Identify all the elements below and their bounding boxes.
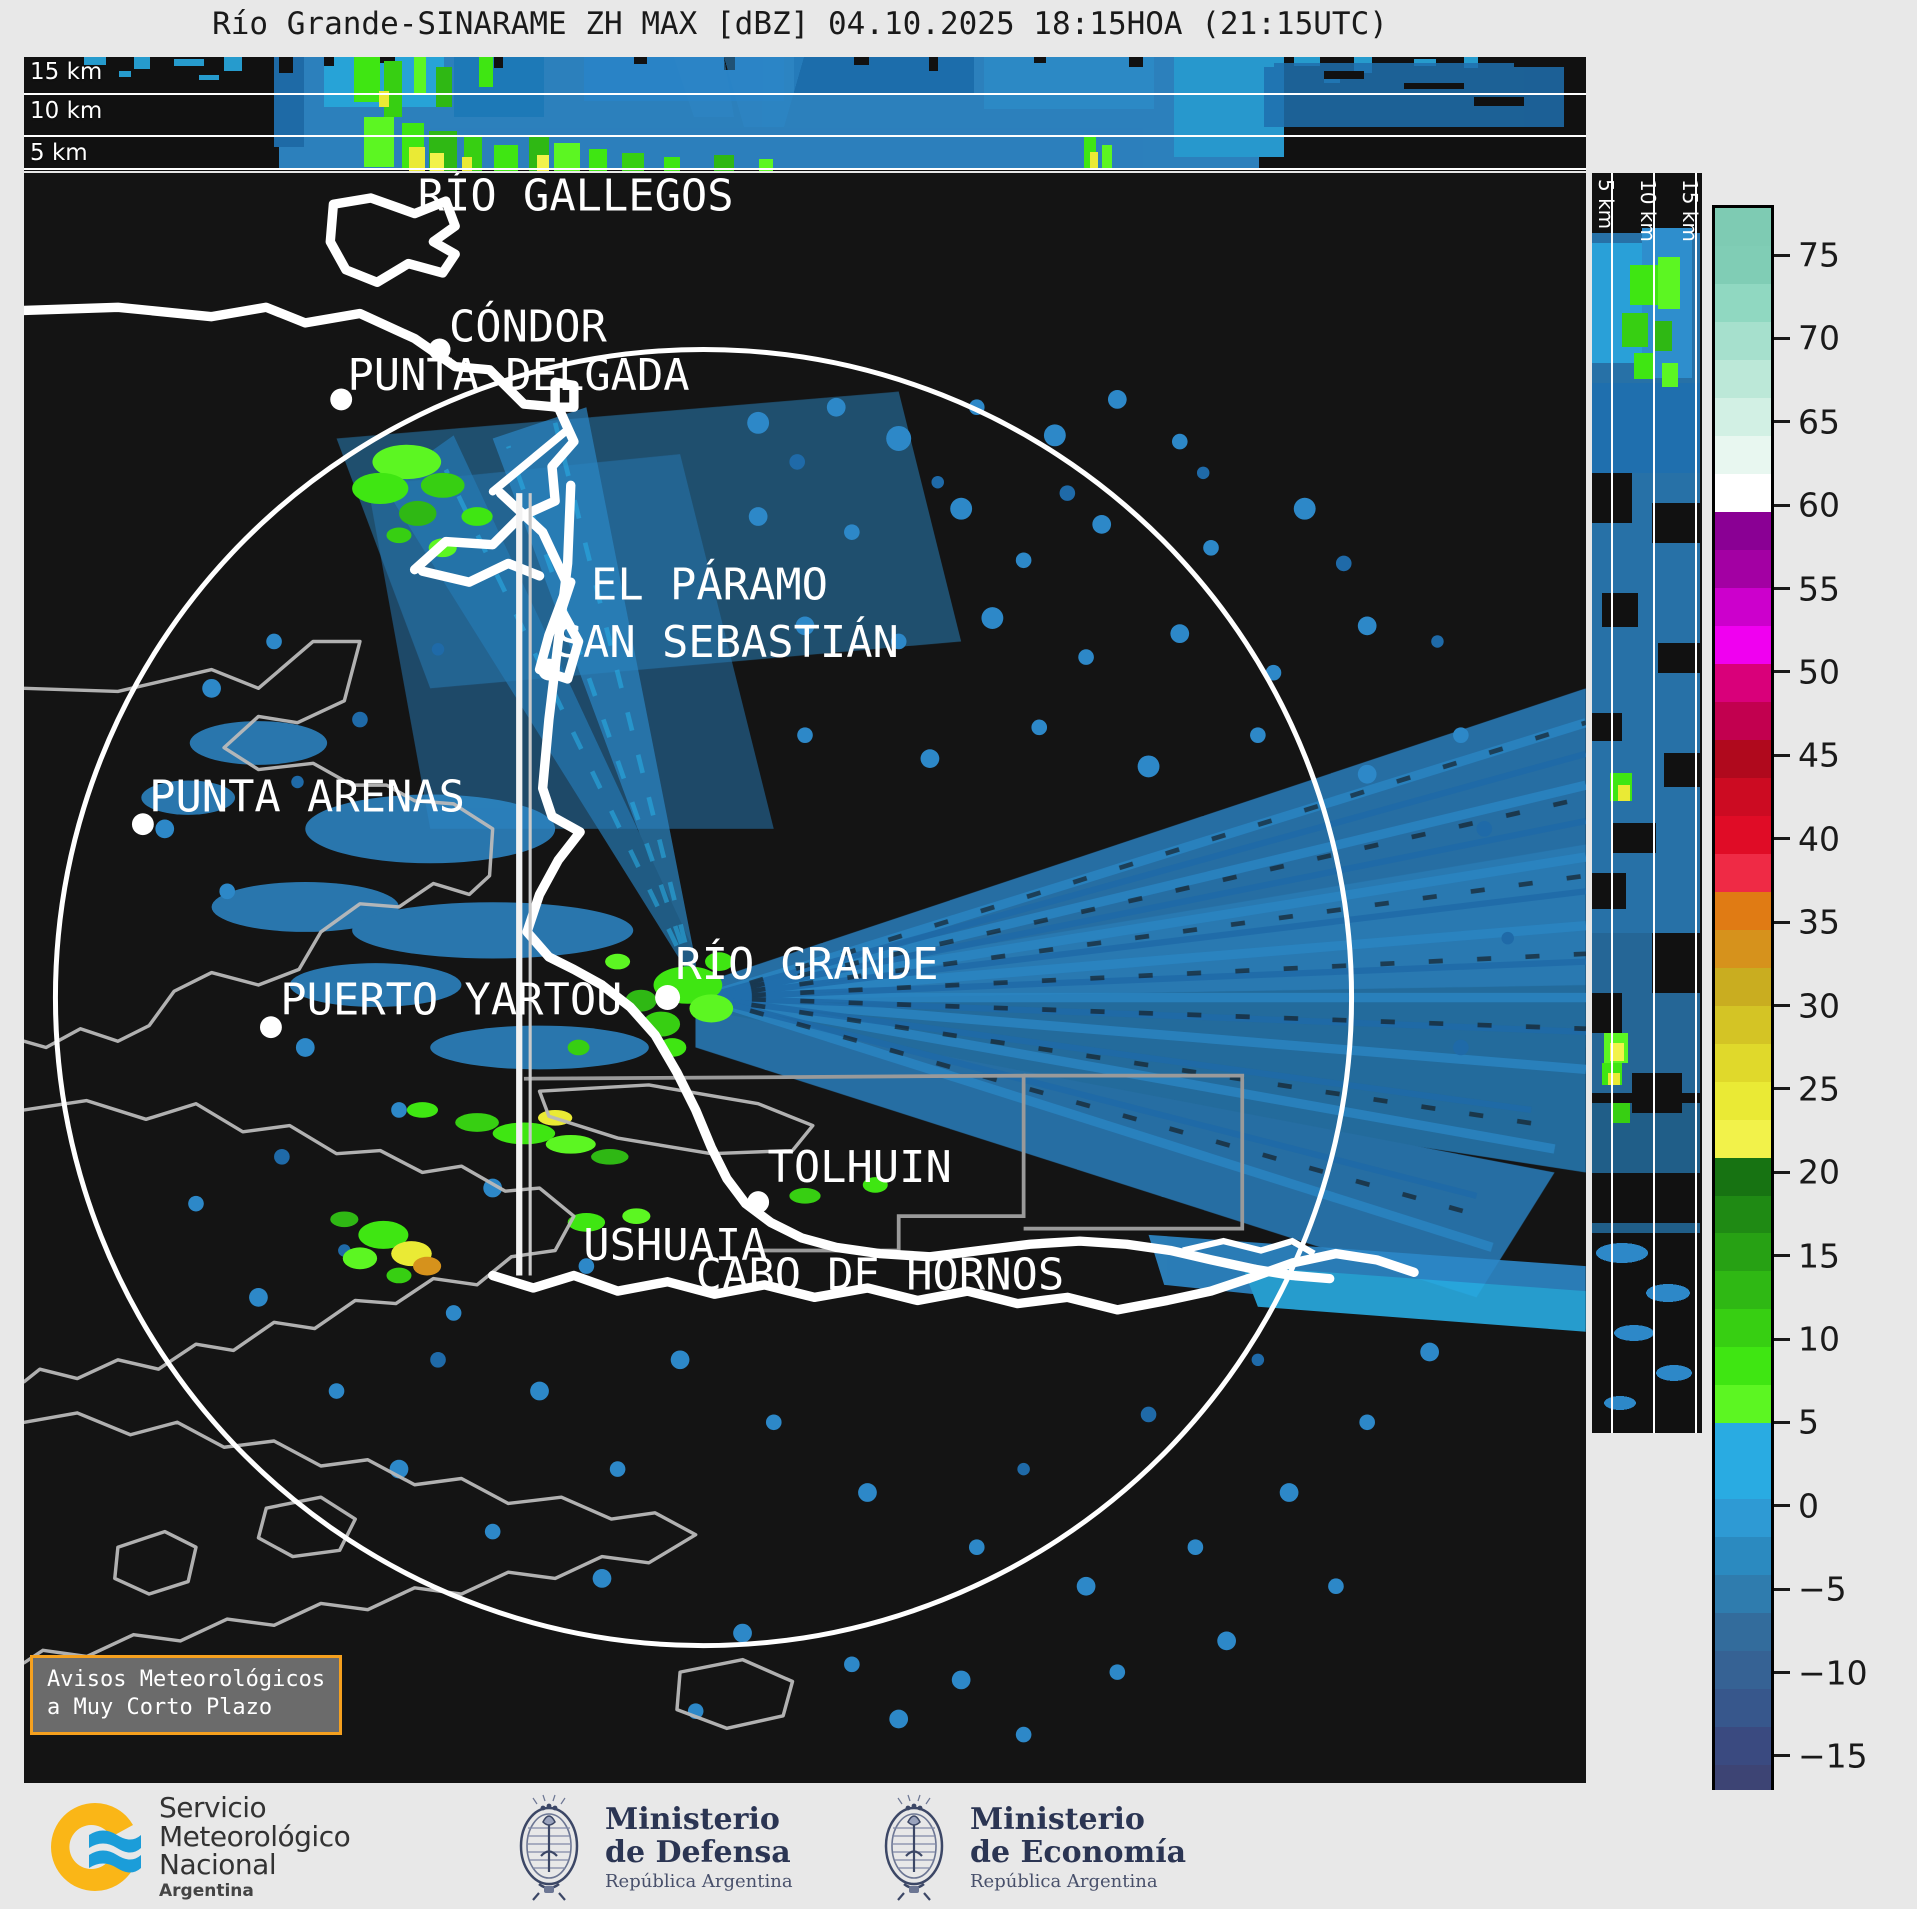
colorbar-swatch <box>1715 436 1771 474</box>
defensa-line-2: de Defensa <box>605 1837 793 1869</box>
radar-plan-view[interactable]: RÍO GALLEGOS CÓNDOR PUNTA DELGADA EL PÁR… <box>24 173 1586 1783</box>
colorbar-swatch <box>1715 854 1771 892</box>
xsec-right-height-label-5km: 5 km <box>1594 179 1618 229</box>
colorbar-tick-label: 65 <box>1798 402 1840 441</box>
colorbar-tick-mark <box>1774 921 1790 924</box>
colorbar-swatch <box>1715 1120 1771 1158</box>
colorbar-legend: −15−10−5051015202530354045505560657075 <box>1712 205 1774 1806</box>
cross-section-right-panel: 5 km 10 km 15 km <box>1592 173 1702 1433</box>
smn-line-1: Servicio <box>159 1794 350 1823</box>
defensa-subtitle: República Argentina <box>605 1872 793 1891</box>
place-dot-tolhuin <box>747 1191 769 1213</box>
colorbar-tick-mark <box>1774 1254 1790 1257</box>
colorbar-swatch <box>1715 1385 1771 1423</box>
colorbar-tick-mark <box>1774 587 1790 590</box>
colorbar-tick-label: 35 <box>1798 903 1840 942</box>
colorbar-tick-mark <box>1774 1171 1790 1174</box>
smn-subtitle: Argentina <box>159 1883 350 1900</box>
place-label-cabo-de-hornos: CABO DE HORNOS <box>696 1250 1065 1301</box>
colorbar-swatch <box>1715 360 1771 398</box>
colorbar-swatch <box>1715 588 1771 626</box>
colorbar-tick-label: 25 <box>1798 1069 1840 1108</box>
place-label-puerto-yartou: PUERTO YARTOU <box>280 975 622 1026</box>
colorbar-tick-mark <box>1774 254 1790 257</box>
argentina-coat-of-arms-icon <box>505 1794 593 1902</box>
economia-line-1: Ministerio <box>970 1804 1186 1836</box>
colorbar-swatch <box>1715 1613 1771 1651</box>
colorbar-swatch <box>1715 664 1771 702</box>
colorbar-tick-mark <box>1774 1671 1790 1674</box>
colorbar-swatch <box>1715 1689 1771 1727</box>
colorbar-tick-label: 20 <box>1798 1153 1840 1192</box>
place-label-condor: CÓNDOR <box>449 300 608 353</box>
smn-mark-icon <box>45 1797 145 1897</box>
colorbar-tick-label: −10 <box>1798 1653 1868 1692</box>
defensa-line-1: Ministerio <box>605 1804 793 1836</box>
xsec-top-height-label-10km: 10 km <box>30 98 102 124</box>
colorbar-tick-mark <box>1774 337 1790 340</box>
place-label-rio-gallegos: RÍO GALLEGOS <box>418 173 734 221</box>
colorbar-tick-label: −15 <box>1798 1736 1868 1775</box>
colorbar-tick-label: −5 <box>1798 1570 1847 1609</box>
xsec-top-height-label-5km: 5 km <box>30 140 88 166</box>
colorbar-tick-label: 40 <box>1798 819 1840 858</box>
colorbar-tick-label: 50 <box>1798 652 1840 691</box>
colorbar-swatch <box>1715 1309 1771 1347</box>
place-label-punta-arenas: PUNTA ARENAS <box>149 772 465 823</box>
colorbar-swatch <box>1715 1651 1771 1689</box>
place-label-punta-delgada: PUNTA DELGADA <box>347 350 689 401</box>
colorbar-swatch <box>1715 284 1771 322</box>
colorbar-swatch <box>1715 1423 1771 1461</box>
colorbar-swatch <box>1715 1537 1771 1575</box>
colorbar-swatch <box>1715 208 1771 246</box>
colorbar-tick-mark <box>1774 1754 1790 1757</box>
argentina-coat-of-arms-icon <box>870 1794 958 1902</box>
colorbar-tick-mark <box>1774 1504 1790 1507</box>
colorbar-swatch <box>1715 892 1771 930</box>
economia-subtitle: República Argentina <box>970 1872 1186 1891</box>
colorbar-tick-label: 10 <box>1798 1320 1840 1359</box>
colorbar-swatch <box>1715 512 1771 550</box>
colorbar-gradient <box>1712 205 1774 1806</box>
colorbar-swatch <box>1715 930 1771 968</box>
colorbar-tick-mark <box>1774 504 1790 507</box>
colorbar-swatch <box>1715 1347 1771 1385</box>
colorbar-tick-label: 70 <box>1798 319 1840 358</box>
place-label-el-paramo: EL PÁRAMO <box>591 557 828 610</box>
colorbar-swatch <box>1715 702 1771 740</box>
colorbar-swatch <box>1715 740 1771 778</box>
colorbar-swatch <box>1715 1082 1771 1120</box>
colorbar-tick-label: 0 <box>1798 1486 1819 1525</box>
colorbar-swatch <box>1715 550 1771 588</box>
colorbar-swatch <box>1715 1271 1771 1309</box>
colorbar-tick-mark <box>1774 837 1790 840</box>
colorbar-tick-mark <box>1774 420 1790 423</box>
colorbar-swatch <box>1715 1044 1771 1082</box>
colorbar-swatch <box>1715 474 1771 512</box>
colorbar-tick-label: 55 <box>1798 569 1840 608</box>
colorbar-tick-mark <box>1774 1338 1790 1341</box>
colorbar-swatch <box>1715 968 1771 1006</box>
colorbar-swatch <box>1715 246 1771 284</box>
warning-box[interactable]: Avisos Meteorológicos a Muy Corto Plazo <box>30 1655 342 1735</box>
colorbar-swatch <box>1715 1461 1771 1499</box>
logo-servicio-meteorologico-nacional: Servicio Meteorológico Nacional Argentin… <box>45 1794 350 1900</box>
colorbar-swatch <box>1715 1575 1771 1613</box>
colorbar-tick-label: 75 <box>1798 236 1840 275</box>
place-label-rio-grande: RÍO GRANDE <box>675 937 938 990</box>
colorbar-tick-mark <box>1774 754 1790 757</box>
colorbar-tick-label: 30 <box>1798 986 1840 1025</box>
colorbar-swatch <box>1715 778 1771 816</box>
xsec-right-height-label-15km: 15 km <box>1678 179 1702 242</box>
colorbar-swatch <box>1715 1499 1771 1537</box>
colorbar-tick-mark <box>1774 1588 1790 1591</box>
logo-ministerio-de-economia: Ministerio de Economía República Argenti… <box>870 1794 1186 1902</box>
xsec-right-height-label-10km: 10 km <box>1636 179 1660 242</box>
colorbar-swatch <box>1715 1196 1771 1234</box>
colorbar-tick-label: 60 <box>1798 486 1840 525</box>
footer-logos: Servicio Meteorológico Nacional Argentin… <box>0 1790 1917 1909</box>
xsec-top-height-label-15km: 15 km <box>30 59 102 85</box>
place-label-san-sebastian: SAN SEBASTIÁN <box>557 615 899 668</box>
colorbar-tick-label: 15 <box>1798 1236 1840 1275</box>
page-title: Río Grande-SINARAME ZH MAX [dBZ] 04.10.2… <box>0 6 1600 42</box>
colorbar-tick-mark <box>1774 670 1790 673</box>
colorbar-tick-label: 5 <box>1798 1403 1819 1442</box>
logo-ministerio-de-defensa: Ministerio de Defensa República Argentin… <box>505 1794 793 1902</box>
cross-section-top-panel: 15 km 10 km 5 km <box>24 57 1586 171</box>
warning-line-1: Avisos Meteorológicos <box>47 1666 325 1694</box>
colorbar-tick-label: 45 <box>1798 736 1840 775</box>
smn-line-3: Nacional <box>159 1851 350 1880</box>
economia-line-2: de Economía <box>970 1837 1186 1869</box>
colorbar-swatch <box>1715 1158 1771 1196</box>
colorbar-swatch <box>1715 322 1771 360</box>
colorbar-swatch <box>1715 1727 1771 1765</box>
colorbar-swatch <box>1715 1233 1771 1271</box>
colorbar-swatch <box>1715 816 1771 854</box>
smn-line-2: Meteorológico <box>159 1823 350 1852</box>
colorbar-tick-mark <box>1774 1004 1790 1007</box>
colorbar-swatch <box>1715 626 1771 664</box>
colorbar-swatch <box>1715 1006 1771 1044</box>
colorbar-tick-mark <box>1774 1087 1790 1090</box>
warning-line-2: a Muy Corto Plazo <box>47 1694 325 1722</box>
place-label-tolhuin: TOLHUIN <box>768 1142 952 1193</box>
place-dot-puerto-yartou <box>260 1016 282 1038</box>
colorbar-tick-mark <box>1774 1421 1790 1424</box>
colorbar-swatch <box>1715 398 1771 436</box>
colorbar-ticks: −15−10−5051015202530354045505560657075 <box>1774 205 1917 1806</box>
